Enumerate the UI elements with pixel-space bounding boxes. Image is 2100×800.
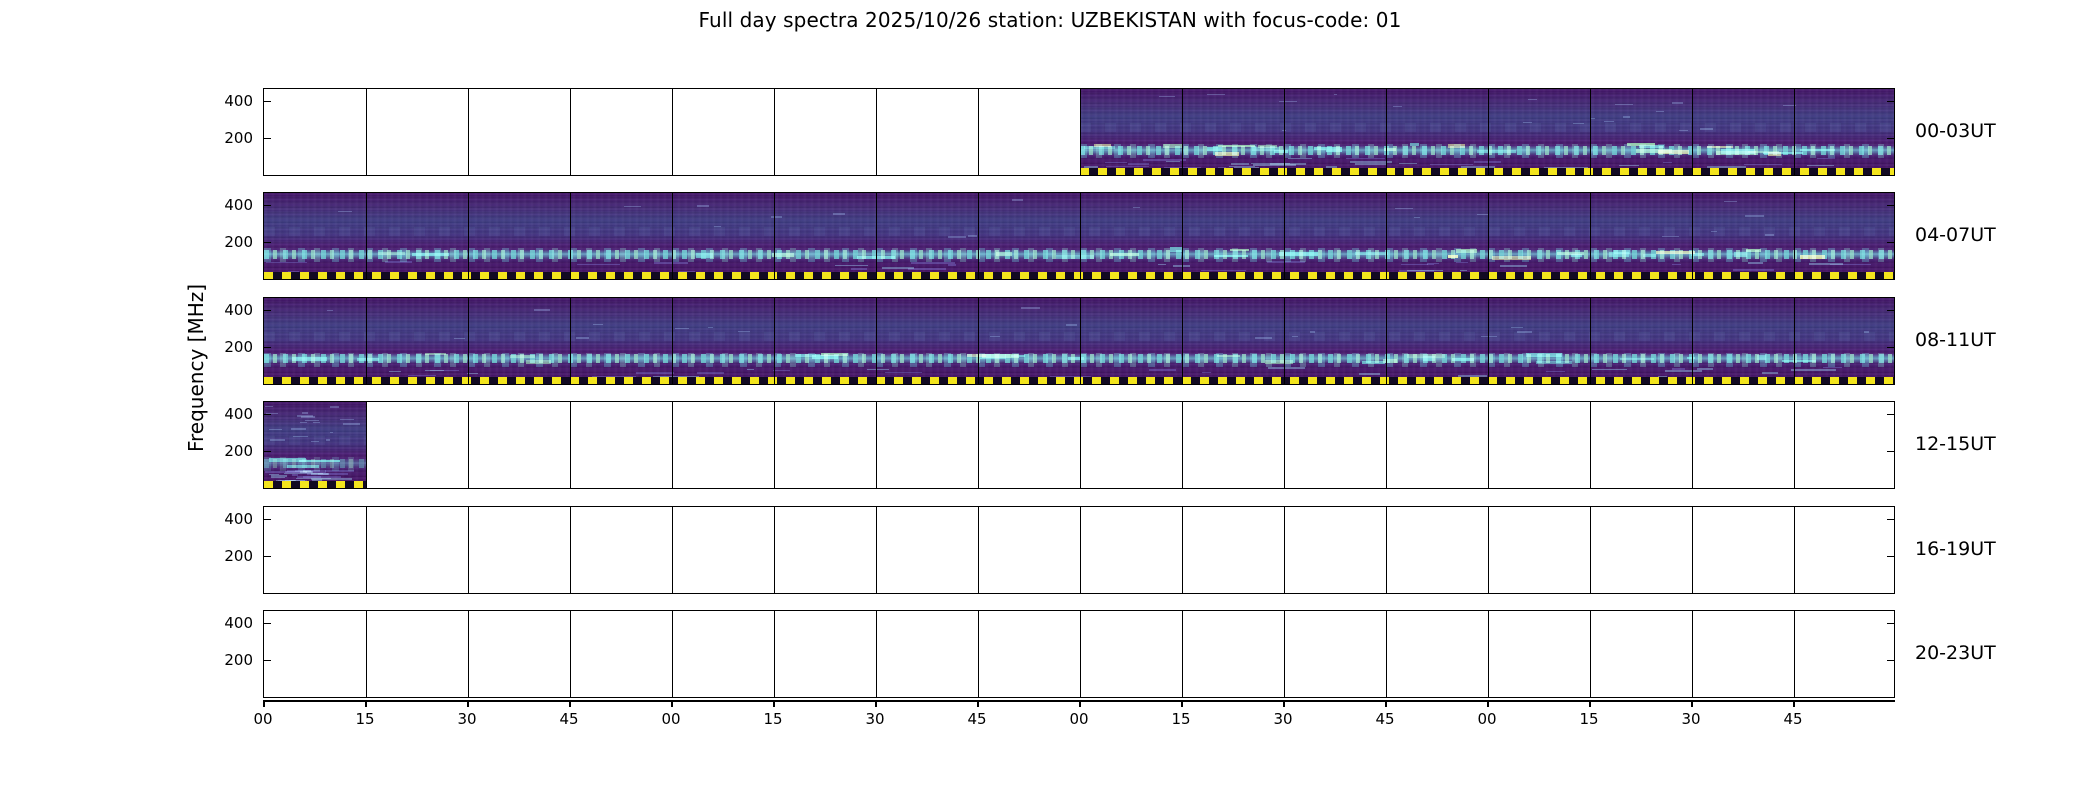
spectrogram-speckle [1334,94,1337,95]
spectrogram-speckle [343,423,360,424]
panel-divider [366,193,367,279]
spectrogram-speckle [1724,201,1737,202]
panel-divider [1182,298,1183,384]
panel-divider [978,402,979,488]
panel-divider [978,507,979,593]
panel-divider [774,193,775,279]
panel-divider [1182,611,1183,697]
spectrogram-speckle [1528,99,1537,100]
spectrogram-speckle [1662,236,1679,237]
spectrogram-panel-16-19[interactable] [263,506,1895,594]
spectrogram-peak [1627,143,1655,145]
y-tick-mark [1887,205,1894,206]
spectrogram-lowband-streak [1359,373,1380,375]
spectrogram-peak [425,353,446,355]
spectrogram-lowband-streak [1430,164,1474,166]
y-tick-mark [1887,660,1894,661]
spectrogram-lowband-streak [835,265,868,267]
x-tick-label: 15 [1569,710,1609,728]
spectrogram-lowband-streak [1592,369,1626,371]
spectrogram-lowband-streak [1106,166,1149,168]
spectrogram-peak [1658,150,1689,154]
panel-divider [1692,193,1693,279]
y-tick-label: 200 [193,338,253,356]
y-tick-label: 400 [193,301,253,319]
x-tick-mark [1079,700,1081,707]
y-tick-mark [1887,451,1894,452]
spectrogram-speckle [948,236,965,237]
panel-divider [1488,193,1489,279]
panel-divider [876,611,877,697]
spectrogram-speckle [302,412,308,413]
panel-divider [1488,507,1489,593]
spectrogram-peak [1207,147,1222,151]
panel-divider [978,89,979,175]
spectrogram-speckle [990,336,1001,337]
spectrogram-lowband-streak [1807,165,1834,167]
spectrogram-lowband-streak [1288,158,1312,160]
spectrogram-lowband-streak [1268,367,1305,369]
y-tick-mark [264,205,271,206]
spectrogram-lowband-streak [1166,161,1180,163]
spectrogram-lowband-streak [1399,163,1417,165]
spectrogram-peak [1068,357,1084,360]
spectrogram-lowband-streak [747,369,754,371]
panel-divider [774,611,775,697]
panel-divider [876,507,877,593]
spectrogram-peak [1448,255,1458,258]
x-tick-label: 00 [1059,710,1099,728]
spectrogram-peak [1456,249,1477,254]
spectrogram-lowband-streak [1546,371,1565,373]
panel-divider [1590,298,1591,384]
panel-divider [1590,402,1591,488]
panel-divider [1386,402,1387,488]
y-tick-mark [1887,347,1894,348]
spectrogram-lowband-streak [1762,372,1778,374]
spectrogram-peak [996,252,1013,256]
spectrogram-speckle [305,420,319,421]
spectrogram-speckle [330,406,340,407]
spectrogram-speckle [454,338,465,339]
panel-divider [1692,298,1693,384]
panel-divider [672,89,673,175]
panel-divider [1386,89,1387,175]
spectrogram-speckle [1159,96,1175,97]
y-tick-mark [264,310,271,311]
spectrogram-peak [1163,144,1184,148]
spectrogram-lowband-streak [851,268,867,270]
spectrogram-figure: Full day spectra 2025/10/26 station: UZB… [0,0,2100,800]
y-tick-label: 200 [193,129,253,147]
spectrogram-lowband-streak [1231,163,1249,165]
spectrogram-peak [1571,254,1582,258]
spectrogram-peak [357,358,378,361]
x-tick-mark [263,700,265,707]
spectrogram-speckle [270,439,285,440]
spectrogram-peak [1423,356,1435,360]
spectrogram-speckle [534,309,549,310]
x-tick-label: 30 [447,710,487,728]
spectrogram-peak [1526,353,1562,357]
spectrogram-speckle [1414,217,1421,218]
panel-divider [1590,507,1591,593]
spectrogram-speckle [1393,106,1402,107]
spectrogram-lowband-streak [1744,164,1782,166]
spectrogram-peak [1218,145,1255,148]
row-label-00-03: 00-03UT [1915,120,1996,142]
y-tick-mark [264,347,271,348]
spectrogram-lowband-streak [1346,158,1385,160]
y-tick-mark [1887,414,1894,415]
spectrogram-peak [1748,151,1779,153]
spectrogram-speckle [293,436,308,437]
y-tick-mark [264,556,271,557]
panel-divider [1080,402,1081,488]
spectrogram-speckle [1021,307,1040,308]
spectrogram-lowband-streak [389,371,401,373]
spectrogram-peak [1215,152,1239,156]
x-tick-mark [467,700,469,707]
panel-divider [366,89,367,175]
spectrogram-panel-00-03[interactable] [263,88,1895,176]
x-tick-label: 45 [549,710,589,728]
spectrogram-speckle [313,422,319,423]
panel-divider [774,507,775,593]
spectrogram-peak [1056,255,1094,259]
panel-divider [1386,193,1387,279]
panel-divider [672,611,673,697]
panel-divider [468,611,469,697]
y-tick-mark [264,242,271,243]
x-tick-mark [1691,700,1693,707]
spectrogram-peak [1410,143,1420,146]
spectrogram-panel-08-11[interactable] [263,297,1895,385]
panel-divider [1488,89,1489,175]
x-tick-label: 30 [855,710,895,728]
panel-divider [468,298,469,384]
spectrogram-lowband-streak [577,264,620,266]
spectrogram-lowband-streak [266,262,307,264]
panel-divider [978,298,979,384]
spectrogram-lowband-streak [885,372,921,374]
spectrogram-peak [1084,146,1115,149]
spectrogram-peak [510,355,535,358]
spectrogram-speckle [265,406,273,407]
spectrogram-speckle [1255,337,1272,338]
panel-divider [774,298,775,384]
x-tick-mark [1487,700,1489,707]
panel-divider [1488,611,1489,697]
spectrogram-lowband-streak [1791,369,1836,371]
panel-divider [1386,298,1387,384]
spectrogram-lowband-streak [1105,162,1127,164]
panel-divider [1284,193,1285,279]
panel-divider [1284,89,1285,175]
spectrogram-peak [1643,254,1656,258]
spectrogram-speckle [301,416,315,417]
y-tick-label: 200 [193,442,253,460]
spectrogram-peak [821,353,848,356]
spectrogram-speckle [593,324,603,325]
spectrogram-speckle [833,213,845,214]
spectrogram-lowband-streak [948,264,955,266]
x-tick-mark [1283,700,1285,707]
panel-divider [366,402,367,488]
y-tick-label: 400 [193,405,253,423]
x-tick-mark [875,700,877,707]
spectrogram-peak [1448,144,1464,148]
spectrogram-speckle [1395,208,1413,209]
spectrogram-speckle [1700,128,1713,129]
y-tick-mark [1887,310,1894,311]
panel-divider [366,507,367,593]
y-tick-mark [264,623,271,624]
panel-divider [468,89,469,175]
spectrogram-peak [982,354,1019,358]
panel-divider [978,193,979,279]
y-tick-label: 400 [193,510,253,528]
spectrogram-lowband-streak [773,370,790,372]
spectrogram-peak [1230,249,1250,251]
panel-divider [672,507,673,593]
spectrogram-peak [1452,358,1474,361]
spectrogram-peak [696,253,713,257]
x-tick-mark [365,700,367,707]
spectrogram-speckle [697,205,709,206]
y-tick-label: 400 [193,614,253,632]
panel-divider [1080,193,1081,279]
y-tick-label: 200 [193,651,253,669]
spectrogram-lowband-streak [1733,269,1774,271]
spectrogram-speckle [968,235,977,236]
spectrogram-lowband-streak [1672,264,1681,266]
x-tick-mark [773,700,775,707]
x-tick-label: 00 [651,710,691,728]
y-tick-mark [264,101,271,102]
panel-divider [1692,402,1693,488]
spectrogram-speckle [1604,121,1614,122]
spectrogram-speckle [1591,118,1595,119]
y-tick-mark [264,138,271,139]
x-tick-mark [1385,700,1387,707]
spectrogram-peak [292,357,327,361]
panel-divider [570,298,571,384]
spectrogram-lowband-streak [1158,264,1166,266]
spectrogram-peak [1265,360,1293,365]
spectrogram-flag-strip [264,481,366,488]
panel-divider [774,89,775,175]
panel-divider [1284,611,1285,697]
panel-divider [1182,402,1183,488]
y-tick-mark [1887,556,1894,557]
spectrogram-lowband-streak [1355,163,1387,165]
spectrogram-speckle [1672,102,1683,103]
spectrogram-lowband-streak [867,369,889,371]
spectrogram-speckle [1310,331,1314,332]
x-tick-label: 45 [1773,710,1813,728]
x-tick-mark [569,700,571,707]
spectrogram-peak [526,360,551,364]
spectrogram-panel-20-23[interactable] [263,610,1895,698]
panel-divider [468,402,469,488]
spectrogram-lowband-streak [882,267,914,269]
spectrogram-lowband-streak [1202,372,1211,374]
y-tick-mark [1887,623,1894,624]
panel-divider [1794,507,1795,593]
spectrogram-peak [287,465,319,468]
spectrogram-speckle [624,206,641,207]
spectrogram-peak [1477,150,1516,153]
panel-divider [570,402,571,488]
spectrogram-lowband-streak [1809,263,1843,265]
panel-divider [774,402,775,488]
spectrogram-peak [1609,252,1629,257]
spectrogram-speckle [714,226,722,227]
spectrogram-lowband-streak [269,474,280,476]
spectrogram-speckle [311,441,319,442]
row-label-20-23: 20-23UT [1915,642,1996,664]
panel-divider [1284,402,1285,488]
spectrogram-peak [1687,357,1695,360]
row-label-04-07: 04-07UT [1915,224,1996,246]
spectrogram-speckle [1745,215,1764,216]
spectrogram-lowband-streak [1823,367,1842,369]
spectrogram-speckle [771,216,782,217]
spectrogram-panel-12-15[interactable] [263,401,1895,489]
panel-divider [366,298,367,384]
spectrogram-peak [1170,247,1182,251]
spectrogram-speckle [738,331,751,332]
spectrogram-lowband-streak [1817,158,1835,160]
y-tick-mark [264,414,271,415]
panel-divider [1692,611,1693,697]
spectrogram-peak [1707,146,1733,148]
spectrogram-speckle [1511,327,1524,328]
spectrogram-peak [1110,253,1139,256]
panel-divider [1284,507,1285,593]
panel-divider [672,193,673,279]
panel-divider [1794,89,1795,175]
panel-divider [570,193,571,279]
spectrogram-speckle [338,211,352,212]
panel-divider [672,298,673,384]
spectrogram-peak [1314,147,1326,150]
panel-divider [1386,507,1387,593]
spectrogram-lowband-streak [425,370,443,372]
spectrogram-speckle [1477,214,1488,215]
spectrogram-speckle [1207,94,1226,95]
row-label-12-15: 12-15UT [1915,433,1996,455]
panel-divider [1080,507,1081,593]
spectrogram-panel-04-07[interactable] [263,192,1895,280]
x-tick-label: 00 [1467,710,1507,728]
row-label-16-19: 16-19UT [1915,538,1996,560]
spectrogram-speckle [326,439,330,440]
panel-divider [1182,89,1183,175]
panel-divider [876,402,877,488]
spectrogram-lowband-streak [1401,264,1428,266]
y-tick-mark [1887,519,1894,520]
y-tick-mark [264,451,271,452]
panel-divider [1488,298,1489,384]
panel-divider [1794,402,1795,488]
spectrogram-speckle [1012,199,1023,200]
spectrogram-speckle [1679,130,1688,131]
panel-divider [876,89,877,175]
panel-divider [1794,298,1795,384]
x-tick-label: 00 [243,710,283,728]
panel-divider [1182,507,1183,593]
spectrogram-lowband-streak [1267,261,1305,263]
panel-divider [468,193,469,279]
panel-divider [876,193,877,279]
panel-divider [1590,89,1591,175]
x-tick-label: 30 [1263,710,1303,728]
panel-divider [1692,89,1693,175]
x-tick-label: 30 [1671,710,1711,728]
y-tick-mark [1887,138,1894,139]
spectrogram-speckle [1765,234,1773,235]
panel-divider [1794,193,1795,279]
spectrogram-peak [1620,358,1653,360]
spectrogram-peak [1274,150,1288,152]
y-tick-label: 400 [193,92,253,110]
spectrogram-lowband-streak [311,478,352,480]
spectrogram-speckle [1292,336,1299,337]
panel-divider [1488,402,1489,488]
spectrogram-speckle [269,429,282,430]
panel-divider [978,611,979,697]
panel-divider [1182,193,1183,279]
spectrogram-peak [1656,251,1695,254]
spectrogram-speckle [1279,101,1297,102]
page-title: Full day spectra 2025/10/26 station: UZB… [0,8,2100,32]
spectrogram-speckle [300,422,307,423]
spectrogram-speckle [1573,123,1584,124]
panel-divider [570,611,571,697]
spectrogram-lowband-streak [636,372,674,374]
panel-divider [1692,507,1693,593]
panel-divider [468,507,469,593]
spectrogram-lowband-streak [271,477,285,479]
spectrogram-lowband-streak [1149,369,1176,371]
spectrogram-speckle [1656,111,1665,112]
spectrogram-speckle [327,310,333,311]
spectrogram-speckle [675,328,689,329]
row-label-08-11: 08-11UT [1915,329,1996,351]
spectrogram-speckle [708,327,713,328]
spectrogram-speckle [576,337,590,338]
y-tick-mark [1887,101,1894,102]
x-tick-label: 45 [957,710,997,728]
y-tick-mark [264,519,271,520]
spectrogram-lowband-streak [1500,265,1527,267]
y-tick-mark [264,660,271,661]
spectrogram-lowband-streak [1143,159,1186,161]
spectrogram-peak [1355,252,1388,255]
spectrogram-lowband-streak [1270,163,1306,165]
panel-divider [1590,611,1591,697]
x-tick-mark [1793,700,1795,707]
x-tick-mark [977,700,979,707]
spectrogram-speckle [1133,207,1140,208]
spectrogram-peak [1800,255,1826,259]
spectrogram-peak [1800,149,1836,152]
spectrogram-lowband-streak [295,470,320,472]
panel-divider [672,402,673,488]
spectrogram-speckle [1864,331,1869,332]
